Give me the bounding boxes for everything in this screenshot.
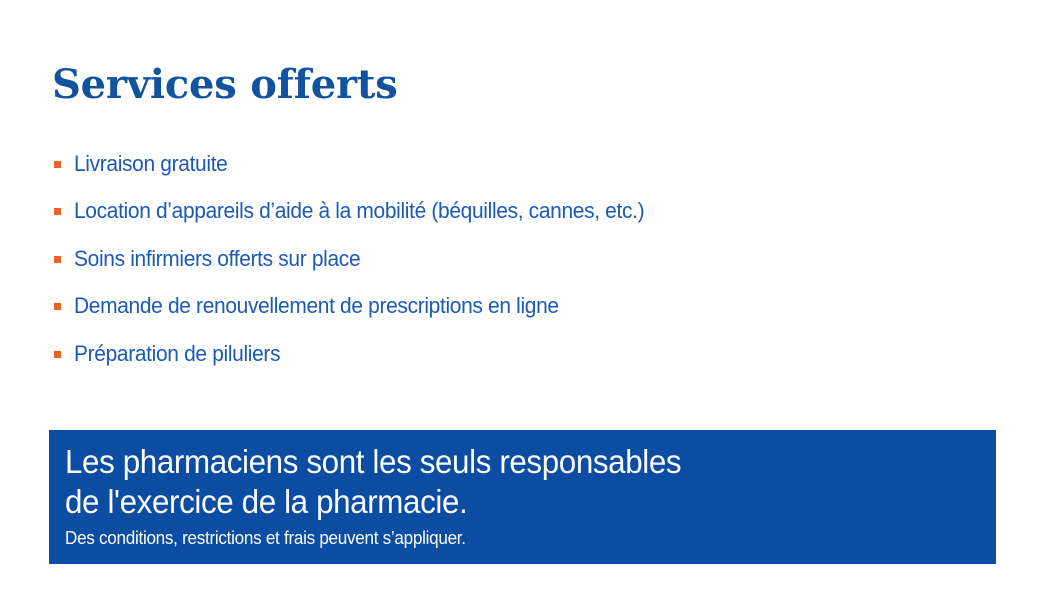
list-item: Demande de renouvellement de prescriptio… [52,283,992,331]
callout-line-1: Les pharmaciens sont les seuls responsab… [65,442,949,482]
list-item-label: Livraison gratuite [74,151,227,177]
square-bullet-icon [54,303,61,310]
callout-line-2: de l'exercice de la pharmacie. [65,482,949,522]
square-bullet-icon [54,161,61,168]
list-item: Soins infirmiers offerts sur place [52,235,992,283]
list-item-label: Location d’appareils d’aide à la mobilit… [74,198,644,224]
list-item-label: Préparation de piluliers [74,341,280,367]
list-item: Préparation de piluliers [52,330,992,378]
disclaimer-callout-box: Les pharmaciens sont les seuls responsab… [49,430,996,564]
list-item: Livraison gratuite [52,140,992,188]
square-bullet-icon [54,256,61,263]
square-bullet-icon [54,351,61,358]
slide: Services offerts Livraison gratuite Loca… [0,0,1050,600]
callout-note: Des conditions, restrictions et frais pe… [65,526,949,550]
list-item: Location d’appareils d’aide à la mobilit… [52,188,992,236]
list-item-label: Demande de renouvellement de prescriptio… [74,293,559,319]
square-bullet-icon [54,208,61,215]
list-item-label: Soins infirmiers offerts sur place [74,246,360,272]
page-title: Services offerts [52,62,398,108]
services-bullet-list: Livraison gratuite Location d’appareils … [52,140,992,378]
